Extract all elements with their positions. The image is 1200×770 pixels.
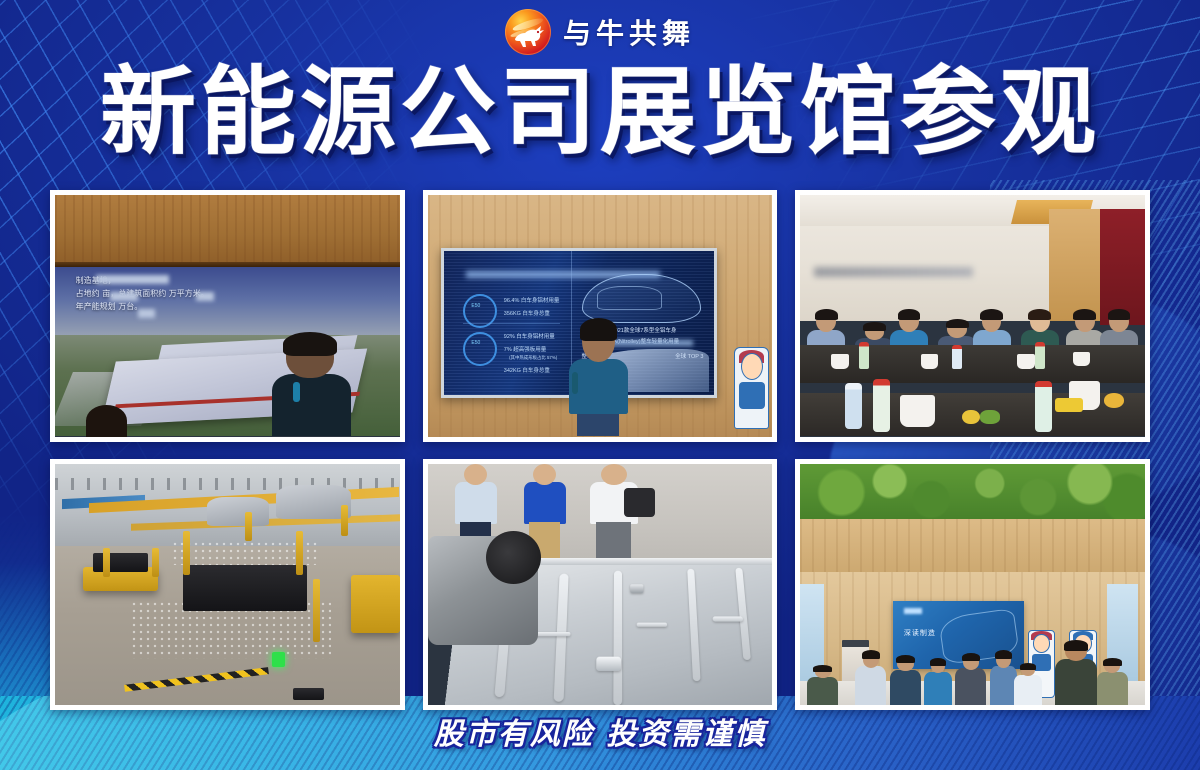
- screen-badge-2: E50: [471, 340, 480, 346]
- photo-frame-6[interactable]: 深读制造 展览馆大厅参观: [795, 459, 1150, 711]
- ev-battery-pack-exhibit: [428, 464, 773, 706]
- screen-right-caption-4: 全球 TOP 3: [675, 352, 703, 360]
- running-bull-logo-icon: [505, 9, 551, 55]
- presenter-figure: [569, 321, 628, 437]
- presenter-body-structure-screen: E50 E50 96.4% 白车身铝材用量 356KG 白车身总重 92% 白车…: [428, 195, 773, 437]
- page-title: 新能源公司展览馆参观: [0, 58, 1200, 166]
- conference-room-attendees: [800, 195, 1145, 437]
- photo-frame-2[interactable]: E50 E50 96.4% 白车身铝材用量 356KG 白车身总重 92% 白车…: [423, 190, 778, 442]
- hall-screen-slogan: 深读制造: [904, 628, 936, 638]
- screen-badge-1: E50: [471, 303, 480, 309]
- photo-frame-1[interactable]: 制造基地， 占地约 亩，总建筑面积约 万平方米。 年产能规划 万台。 讲解员在工…: [50, 190, 405, 442]
- wall-signage-blurred: [814, 267, 973, 277]
- presenter-factory-aerial-slide: 制造基地， 占地约 亩，总建筑面积约 万平方米。 年产能规划 万台。: [55, 195, 400, 437]
- screen-row-3: 92% 白车身铝材用量: [504, 332, 555, 340]
- exhibition-hall-visitors: 深读制造: [800, 464, 1145, 706]
- mascot-standee: [734, 347, 768, 429]
- photo-frame-3[interactable]: 会议室座谈交流现场: [795, 190, 1150, 442]
- photo-frame-5[interactable]: 参观者近距离观看电池包与底盘展品: [423, 459, 778, 711]
- screen-row-6: 342KG 白车身总重: [504, 366, 550, 374]
- photo-grid: 制造基地， 占地约 亩，总建筑面积约 万平方米。 年产能规划 万台。 讲解员在工…: [50, 190, 1150, 710]
- screen-row-1: 96.4% 白车身铝材用量: [504, 296, 560, 304]
- poster-root: 与牛共舞 新能源公司展览馆参观 制造基地， 占地约 亩，总建筑面积约 万平方米。…: [0, 0, 1200, 770]
- screen-row-5: (其中热成形板占比 57%): [509, 355, 557, 361]
- screen-row-4: 7% 超高强板用量: [504, 345, 546, 353]
- brand-name: 与牛共舞: [563, 12, 695, 52]
- presenter-figure: [272, 335, 351, 436]
- brand-row: 与牛共舞: [0, 8, 1200, 56]
- factory-agv-assembly-line: [55, 464, 400, 706]
- photo-frame-4[interactable]: 工厂AGV搬运车与整车总装线: [50, 459, 405, 711]
- risk-disclaimer: 股市有风险 投资需谨慎: [0, 709, 1200, 753]
- screen-row-2: 356KG 白车身总重: [504, 309, 550, 317]
